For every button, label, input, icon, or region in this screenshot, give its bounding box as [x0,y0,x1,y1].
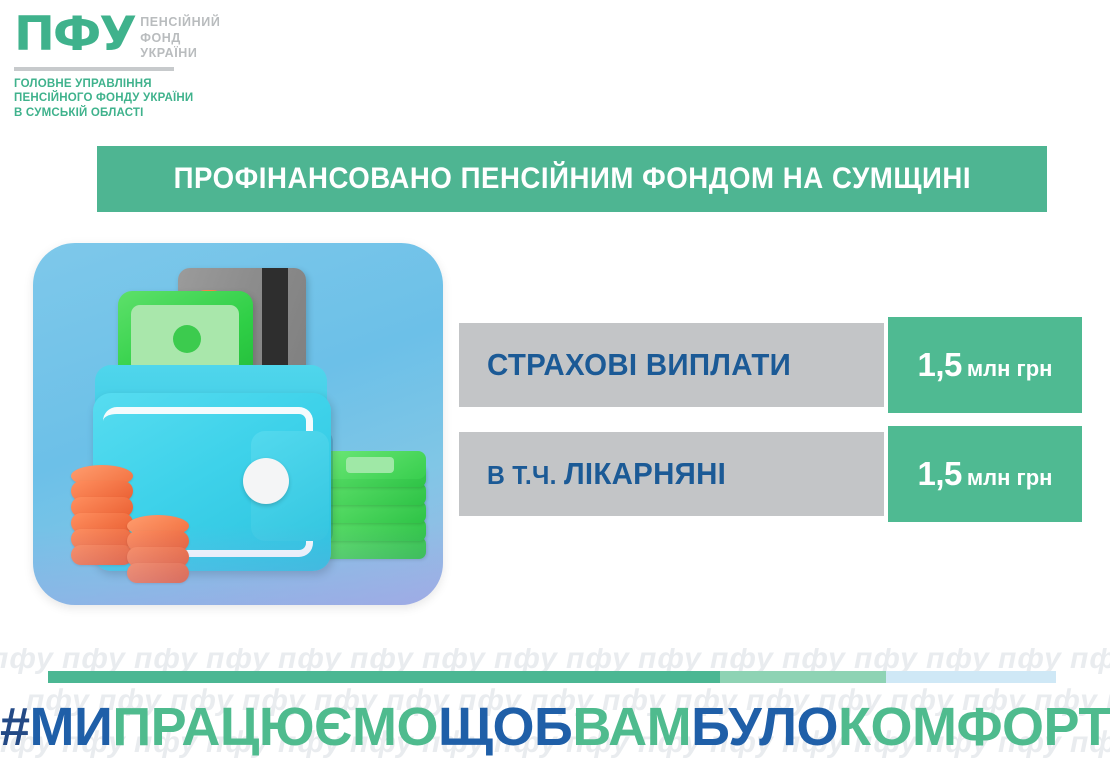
stat-value-unit: млн грн [967,356,1053,381]
banner-title: ПРОФІНАНСОВАНО ПЕНСІЙНИМ ФОНДОМ НА СУМЩИ… [173,162,970,196]
logo-subtitle-line-1: ГОЛОВНЕ УПРАВЛІННЯ [14,76,212,91]
stat-value-text: 1,5млн грн [918,455,1053,493]
stat-value-box: 1,5млн грн [888,317,1082,413]
hashtag-word: КОМФОРТНО [838,697,1110,757]
stat-label-box: СТРАХОВІ ВИПЛАТИ [459,323,884,407]
hashtag-symbol: # [0,697,30,757]
logo-subtitle-line-3: В СУМСЬКІЙ ОБЛАСТІ [14,105,212,120]
stat-label-text: СТРАХОВІ ВИПЛАТИ [487,347,791,383]
logo-subtitle-line-2: ПЕНСІЙНОГО ФОНДУ УКРАЇНИ [14,90,212,105]
stat-label-text: В Т.Ч. ЛІКАРНЯНІ [487,456,726,492]
footer-bar-segment-2 [720,671,886,683]
banknote-seal-icon [173,325,201,353]
stat-label-main: СТРАХОВІ ВИПЛАТИ [487,347,791,382]
wallet-illustration [33,243,443,605]
hashtag-slogan: #МИПРАЦЮЄМОЩОБВАМБУЛОКОМФОРТНО! [0,696,1110,758]
hashtag-word: ЩОБ [438,697,572,757]
logo-word-2: ФОНД [140,31,220,47]
stat-value-text: 1,5млн грн [918,346,1053,384]
hashtag-word: ПРАЦЮЄМО [112,697,438,757]
footer-bar-segment-1 [48,671,720,683]
footer-color-bar [48,671,1056,683]
logo-divider [14,67,174,71]
cash-stack-band [346,457,394,473]
logo-block: ПФУ ПЕНСІЙНИЙ ФОНД УКРАЇНИ ГОЛОВНЕ УПРАВ… [14,12,220,119]
wallet-button-icon [243,458,289,504]
hashtag-word: БУЛО [691,697,838,757]
infographic-page: пфупфупфупфупфупфупфупфупфупфупфупфупфуп… [0,0,1110,766]
cash-stack-layer [316,537,426,559]
hashtag-word: ВАМ [572,697,691,757]
stat-value-number: 1,5 [918,346,962,383]
stat-value-unit: млн грн [967,465,1053,490]
stat-value-box: 1,5млн грн [888,426,1082,522]
logo-subtitle: ГОЛОВНЕ УПРАВЛІННЯ ПЕНСІЙНОГО ФОНДУ УКРА… [14,76,212,120]
logo-word-1: ПЕНСІЙНИЙ [140,15,220,31]
logo-word-3: УКРАЇНИ [140,46,220,62]
footer-bar-segment-3 [886,671,1056,683]
stat-label-prefix: В Т.Ч. [487,460,564,490]
stat-label-main: ЛІКАРНЯНІ [564,456,726,491]
illustration-backdrop [33,243,443,605]
logo-top: ПФУ ПЕНСІЙНИЙ ФОНД УКРАЇНИ [14,12,220,62]
logo-wordmark: ПЕНСІЙНИЙ ФОНД УКРАЇНИ [140,15,220,62]
stat-value-number: 1,5 [918,455,962,492]
banknote-inner [131,305,239,373]
pfu-logo-mark: ПФУ [14,12,135,58]
title-banner: ПРОФІНАНСОВАНО ПЕНСІЙНИМ ФОНДОМ НА СУМЩИ… [97,146,1047,212]
hashtag-word: МИ [30,697,113,757]
stat-label-box: В Т.Ч. ЛІКАРНЯНІ [459,432,884,516]
watermark-glyph: пфу [1070,648,1110,676]
